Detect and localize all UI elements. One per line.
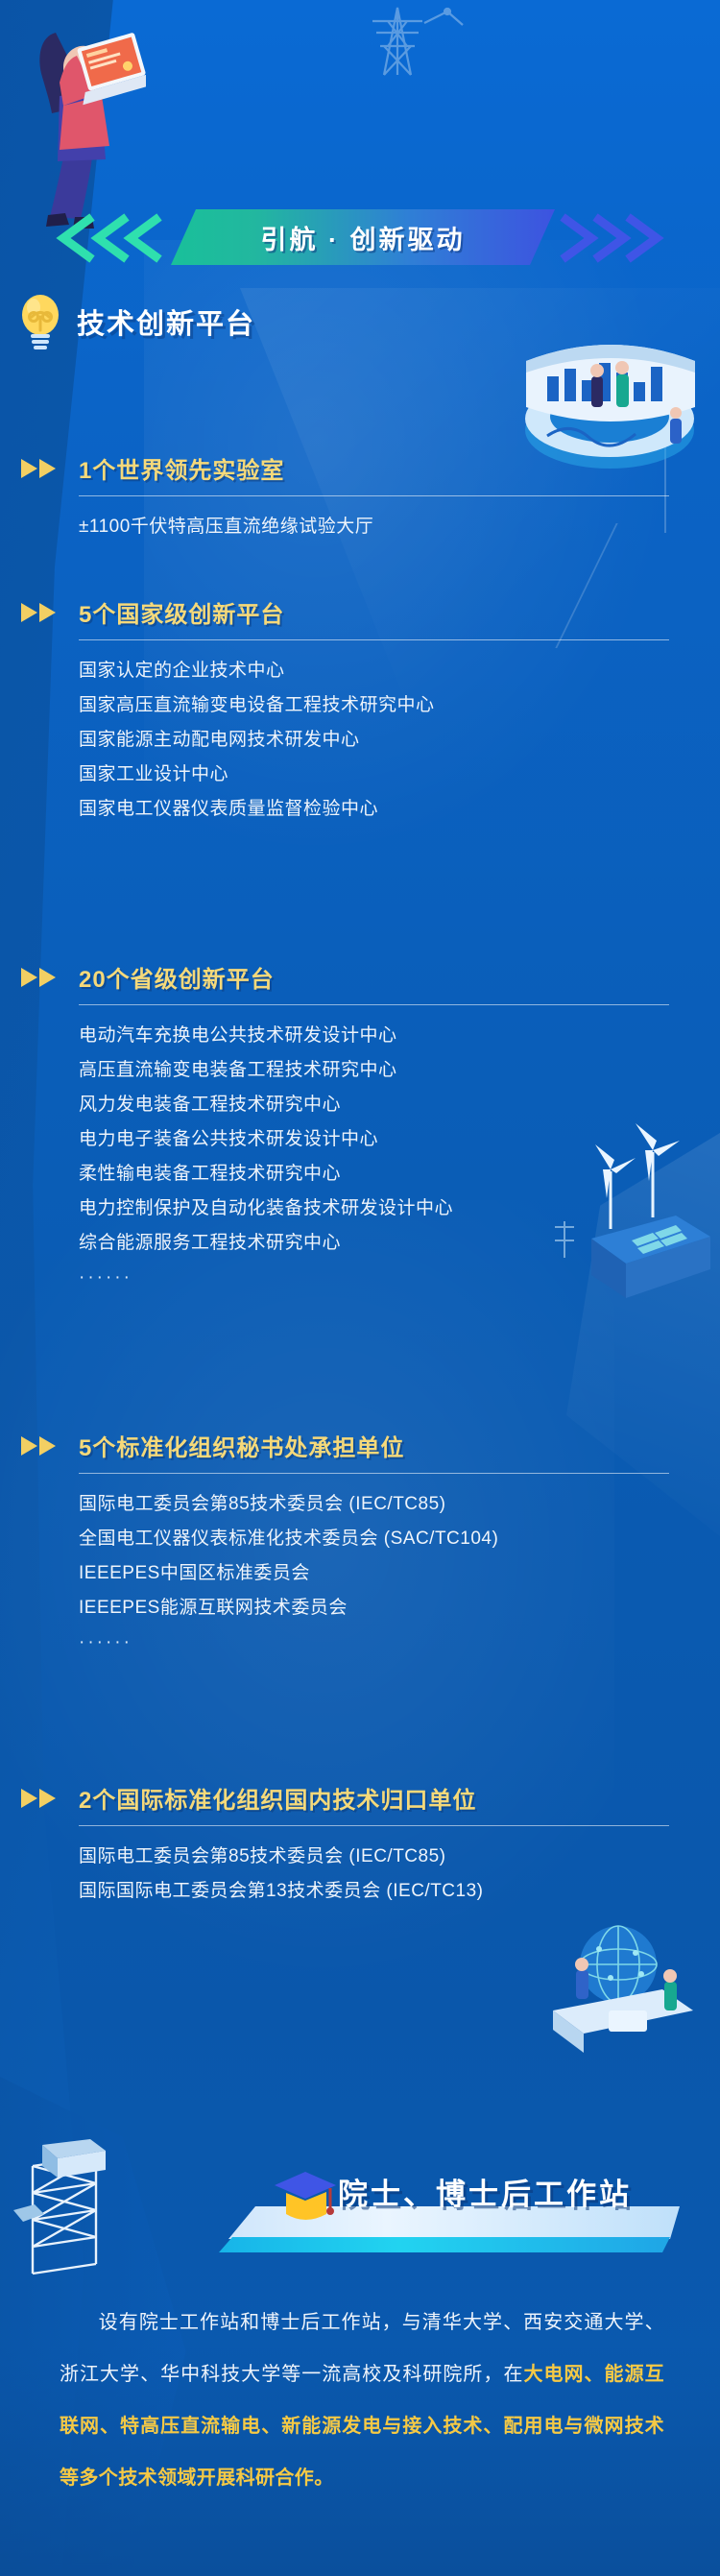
bottom-title: 院士、博士后工作站 [338, 2170, 632, 2213]
bottom-paragraph: 设有院士工作站和博士后工作站，与清华大学、西安交通大学、浙江大学、华中科技大学等… [60, 2297, 664, 2504]
list-item: 国家能源主动配电网技术研发中心 [79, 723, 720, 758]
banner-ribbon: 引航 · 创新驱动 [48, 204, 682, 273]
list-ellipsis: ······ [79, 1625, 720, 1660]
block-header: 5个国家级创新平台 [0, 595, 720, 629]
banner-ribbon-plate: 引航 · 创新驱动 [171, 209, 555, 265]
list-item: ±1100千伏特高压直流绝缘试验大厅 [79, 510, 720, 544]
lightbulb-icon [13, 292, 67, 351]
block-header: 1个世界领先实验室 [0, 451, 720, 485]
block-items: ±1100千伏特高压直流绝缘试验大厅 [79, 510, 720, 544]
double-arrow-icon [21, 458, 63, 479]
wind-farm-illustration [532, 1114, 714, 1306]
section-title: 技术创新平台 [77, 301, 255, 342]
woman-with-laptop-illustration [21, 13, 146, 234]
block-divider [79, 1004, 669, 1005]
double-arrow-icon [21, 967, 63, 988]
bottom-title-plinth-accent [219, 2237, 670, 2252]
block-header: 5个标准化组织秘书处承担单位 [0, 1429, 720, 1462]
list-item: 国家高压直流输变电设备工程技术研究中心 [79, 688, 720, 723]
chevron-left-icon [48, 211, 165, 265]
list-item: 国家电工仪器仪表质量监督检验中心 [79, 792, 720, 827]
list-item: 全国电工仪器仪表标准化技术委员会 (SAC/TC104) [79, 1522, 720, 1556]
block-4: 2个国际标准化组织国内技术归口单位 国际电工委员会第85技术委员会 (IEC/T… [0, 1781, 720, 1909]
double-arrow-icon [21, 1435, 63, 1457]
block-items: 国家认定的企业技术中心 国家高压直流输变电设备工程技术研究中心 国家能源主动配电… [79, 654, 720, 827]
power-tower-illustration [355, 0, 470, 77]
chevron-right-icon [557, 211, 674, 265]
digital-meeting-illustration [495, 1911, 707, 2074]
list-item: 国家工业设计中心 [79, 758, 720, 792]
block-title: 20个省级创新平台 [79, 960, 275, 994]
block-0: 1个世界领先实验室 ±1100千伏特高压直流绝缘试验大厅 [0, 451, 720, 544]
graduation-cap-icon [271, 2168, 340, 2227]
double-arrow-icon [21, 1788, 63, 1809]
bottom-title-section: 院士、博士后工作站 [0, 2147, 720, 2272]
block-title: 2个国际标准化组织国内技术归口单位 [79, 1781, 476, 1815]
block-divider [79, 639, 669, 640]
block-items: 国际电工委员会第85技术委员会 (IEC/TC85) 国际国际电工委员会第13技… [79, 1840, 720, 1909]
block-items: 国际电工委员会第85技术委员会 (IEC/TC85) 全国电工仪器仪表标准化技术… [79, 1487, 720, 1660]
block-divider [79, 1473, 669, 1474]
double-arrow-icon [21, 602, 63, 623]
list-item: IEEEPES中国区标准委员会 [79, 1556, 720, 1591]
block-3: 5个标准化组织秘书处承担单位 国际电工委员会第85技术委员会 (IEC/TC85… [0, 1429, 720, 1660]
list-item: 国际电工委员会第85技术委员会 (IEC/TC85) [79, 1840, 720, 1874]
block-header: 2个国际标准化组织国内技术归口单位 [0, 1781, 720, 1815]
list-item: IEEEPES能源互联网技术委员会 [79, 1591, 720, 1625]
block-title: 5个标准化组织秘书处承担单位 [79, 1429, 404, 1462]
banner-title: 引航 · 创新驱动 [261, 219, 466, 256]
list-item: 国际国际电工委员会第13技术委员会 (IEC/TC13) [79, 1874, 720, 1909]
block-divider [79, 1825, 669, 1826]
block-header: 20个省级创新平台 [0, 960, 720, 994]
block-divider [79, 495, 669, 496]
paragraph-tail: 等多个技术领域开展科研合作。 [60, 2468, 334, 2489]
section-heading: 技术创新平台 [13, 288, 417, 355]
block-title: 5个国家级创新平台 [79, 595, 284, 629]
list-item: 高压直流输变电装备工程技术研究中心 [79, 1053, 720, 1088]
block-title: 1个世界领先实验室 [79, 451, 284, 485]
list-item: 国家认定的企业技术中心 [79, 654, 720, 688]
list-item: 电动汽车充换电公共技术研发设计中心 [79, 1019, 720, 1053]
list-item: 国际电工委员会第85技术委员会 (IEC/TC85) [79, 1487, 720, 1522]
block-1: 5个国家级创新平台 国家认定的企业技术中心 国家高压直流输变电设备工程技术研究中… [0, 595, 720, 827]
